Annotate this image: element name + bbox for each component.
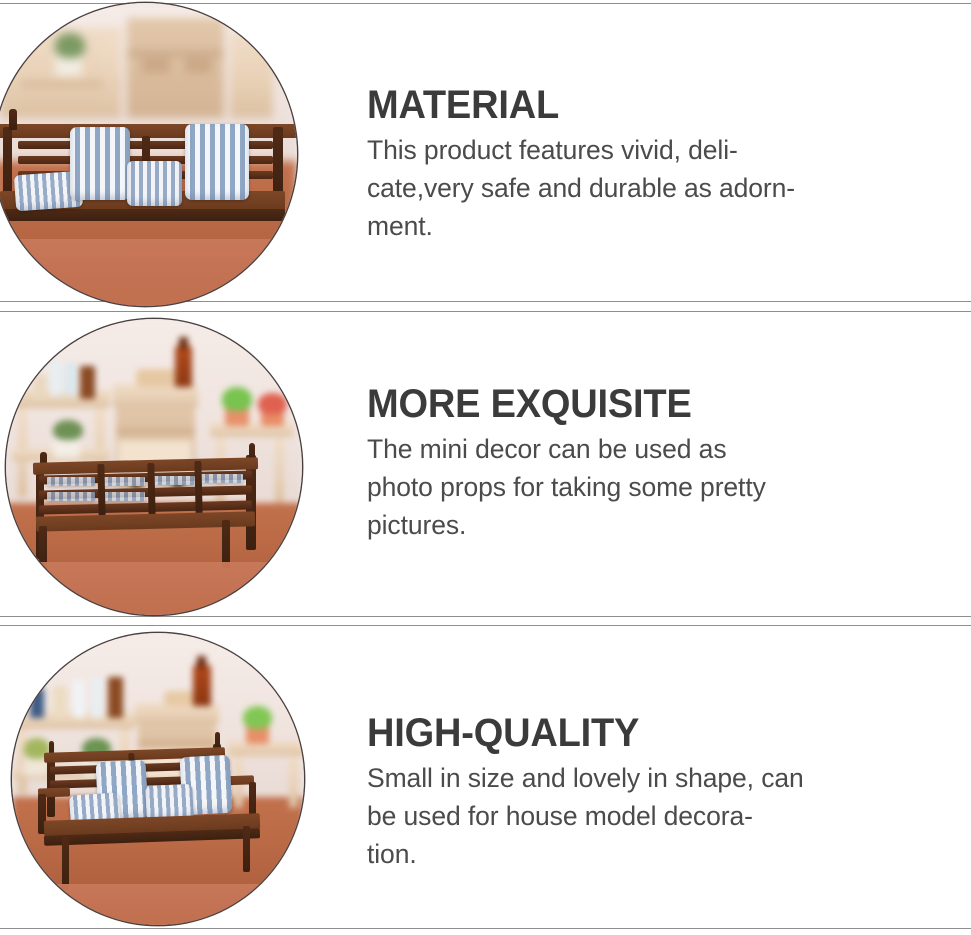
feature-description-high-quality: Small in size and lovely in shape, can b… (367, 760, 957, 873)
feature-photo-more-exquisite (6, 319, 302, 615)
divider-2-lower (0, 625, 971, 626)
divider-1-lower (0, 311, 971, 312)
feature-title-material: MATERIAL (367, 84, 928, 126)
feature-text-material: MATERIAL This product features vivid, de… (367, 84, 957, 245)
feature-row-more-exquisite: MORE EXQUISITE The mini decor can be use… (0, 315, 971, 616)
feature-text-more-exquisite: MORE EXQUISITE The mini decor can be use… (367, 383, 957, 544)
product-feature-infographic: { "page": { "background_color": "#ffffff… (0, 0, 971, 935)
feature-description-material: This product features vivid, deli- cate,… (367, 132, 957, 245)
feature-photo-material (0, 3, 297, 306)
feature-description-more-exquisite: The mini decor can be used as photo prop… (367, 431, 957, 544)
feature-photo-high-quality (12, 633, 304, 925)
divider-2-upper (0, 616, 971, 617)
feature-title-more-exquisite: MORE EXQUISITE (367, 383, 928, 425)
feature-text-high-quality: HIGH-QUALITY Small in size and lovely in… (367, 712, 957, 873)
feature-row-high-quality: HIGH-QUALITY Small in size and lovely in… (0, 630, 971, 930)
feature-row-material: MATERIAL This product features vivid, de… (0, 0, 971, 301)
feature-title-high-quality: HIGH-QUALITY (367, 712, 928, 754)
